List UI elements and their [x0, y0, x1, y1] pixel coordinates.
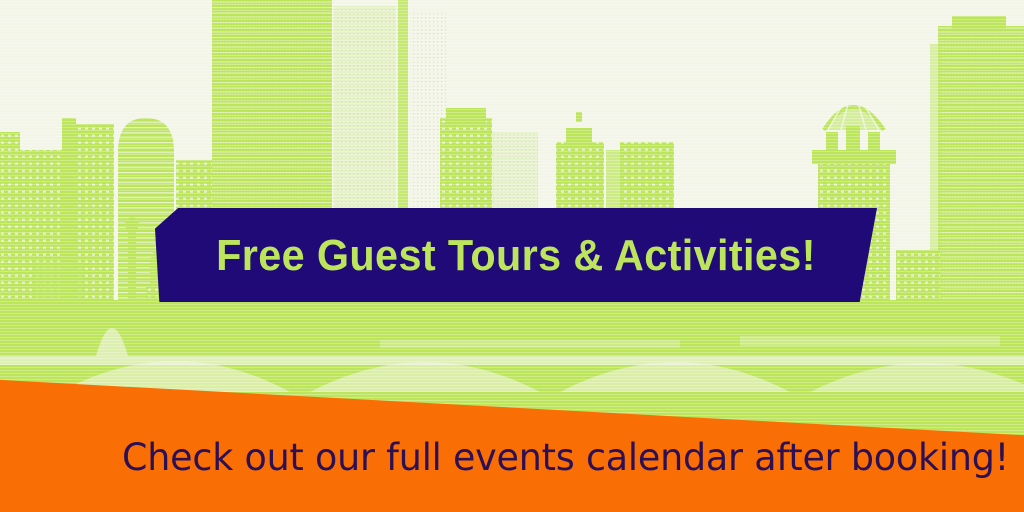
headline-text: Free Guest Tours & Activities!	[216, 234, 816, 278]
headline-ribbon: Free Guest Tours & Activities!	[155, 208, 877, 302]
caption-text: Check out our full events calendar after…	[122, 436, 1009, 479]
promotional-banner: Free Guest Tours & Activities! Check out…	[0, 0, 1024, 512]
